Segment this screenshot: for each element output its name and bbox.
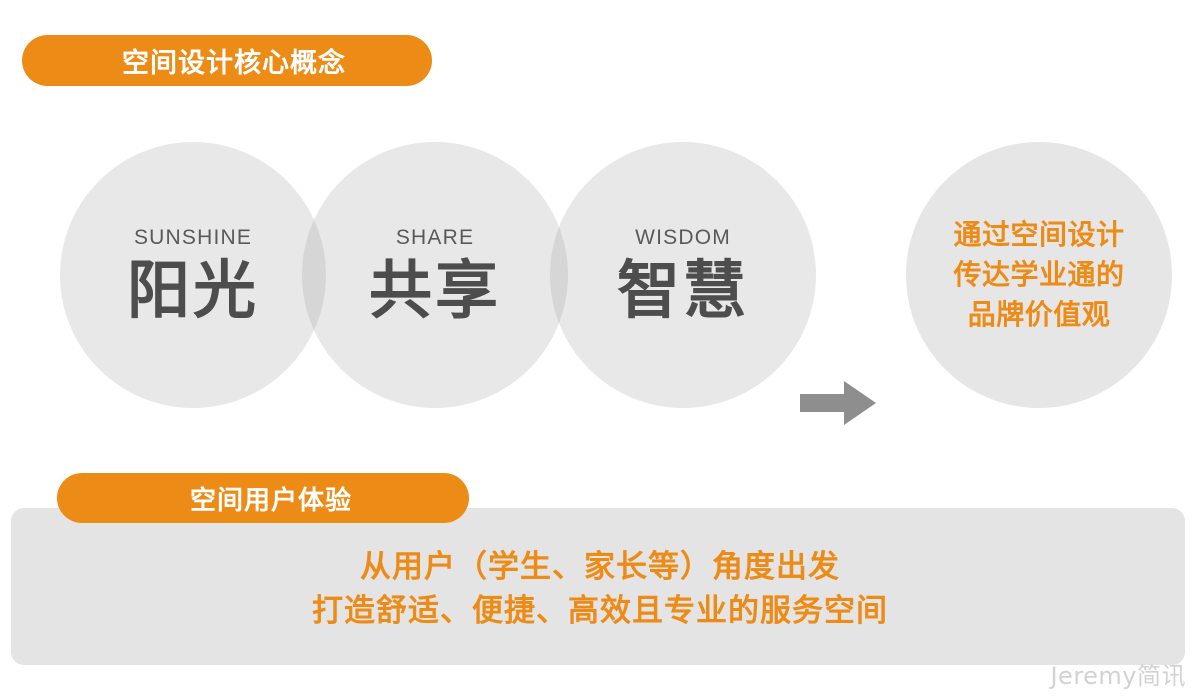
watermark: Jeremy简讯 [1050, 656, 1186, 691]
arrow-right-icon [800, 378, 876, 428]
result-text: 通过空间设计 传达学业通的 品牌价值观 [953, 215, 1124, 334]
venn-diagram: SUNSHINE 阳光 SHARE 共享 WISDOM 智慧 通过空间设计 传达… [0, 120, 1200, 440]
result-line-2: 传达学业通的 [953, 255, 1124, 295]
concept-circle-wisdom[interactable]: WISDOM 智慧 [550, 142, 816, 408]
concept-label-en-share: SHARE [396, 227, 474, 248]
result-line-3: 品牌价值观 [953, 295, 1124, 335]
concept-label-cn-share: 共享 [369, 260, 501, 323]
title-banner: 空间设计核心概念 [22, 35, 432, 86]
slide-canvas: 空间设计核心概念 SUNSHINE 阳光 SHARE 共享 WISDOM 智慧 … [0, 0, 1200, 700]
result-circle[interactable]: 通过空间设计 传达学业通的 品牌价值观 [906, 142, 1172, 408]
concept-circle-share[interactable]: SHARE 共享 [302, 142, 568, 408]
experience-text: 从用户（学生、家长等）角度出发 打造舒适、便捷、高效且专业的服务空间 [0, 545, 1200, 633]
concept-label-en-sunshine: SUNSHINE [134, 227, 252, 248]
concept-circle-sunshine[interactable]: SUNSHINE 阳光 [60, 142, 326, 408]
result-line-1: 通过空间设计 [953, 215, 1124, 255]
section-banner: 空间用户体验 [57, 473, 469, 523]
concept-label-cn-wisdom: 智慧 [617, 260, 749, 323]
experience-line-2: 打造舒适、便捷、高效且专业的服务空间 [0, 589, 1200, 633]
concept-label-en-wisdom: WISDOM [635, 227, 731, 248]
experience-line-1: 从用户（学生、家长等）角度出发 [0, 545, 1200, 589]
concept-label-cn-sunshine: 阳光 [127, 260, 259, 323]
